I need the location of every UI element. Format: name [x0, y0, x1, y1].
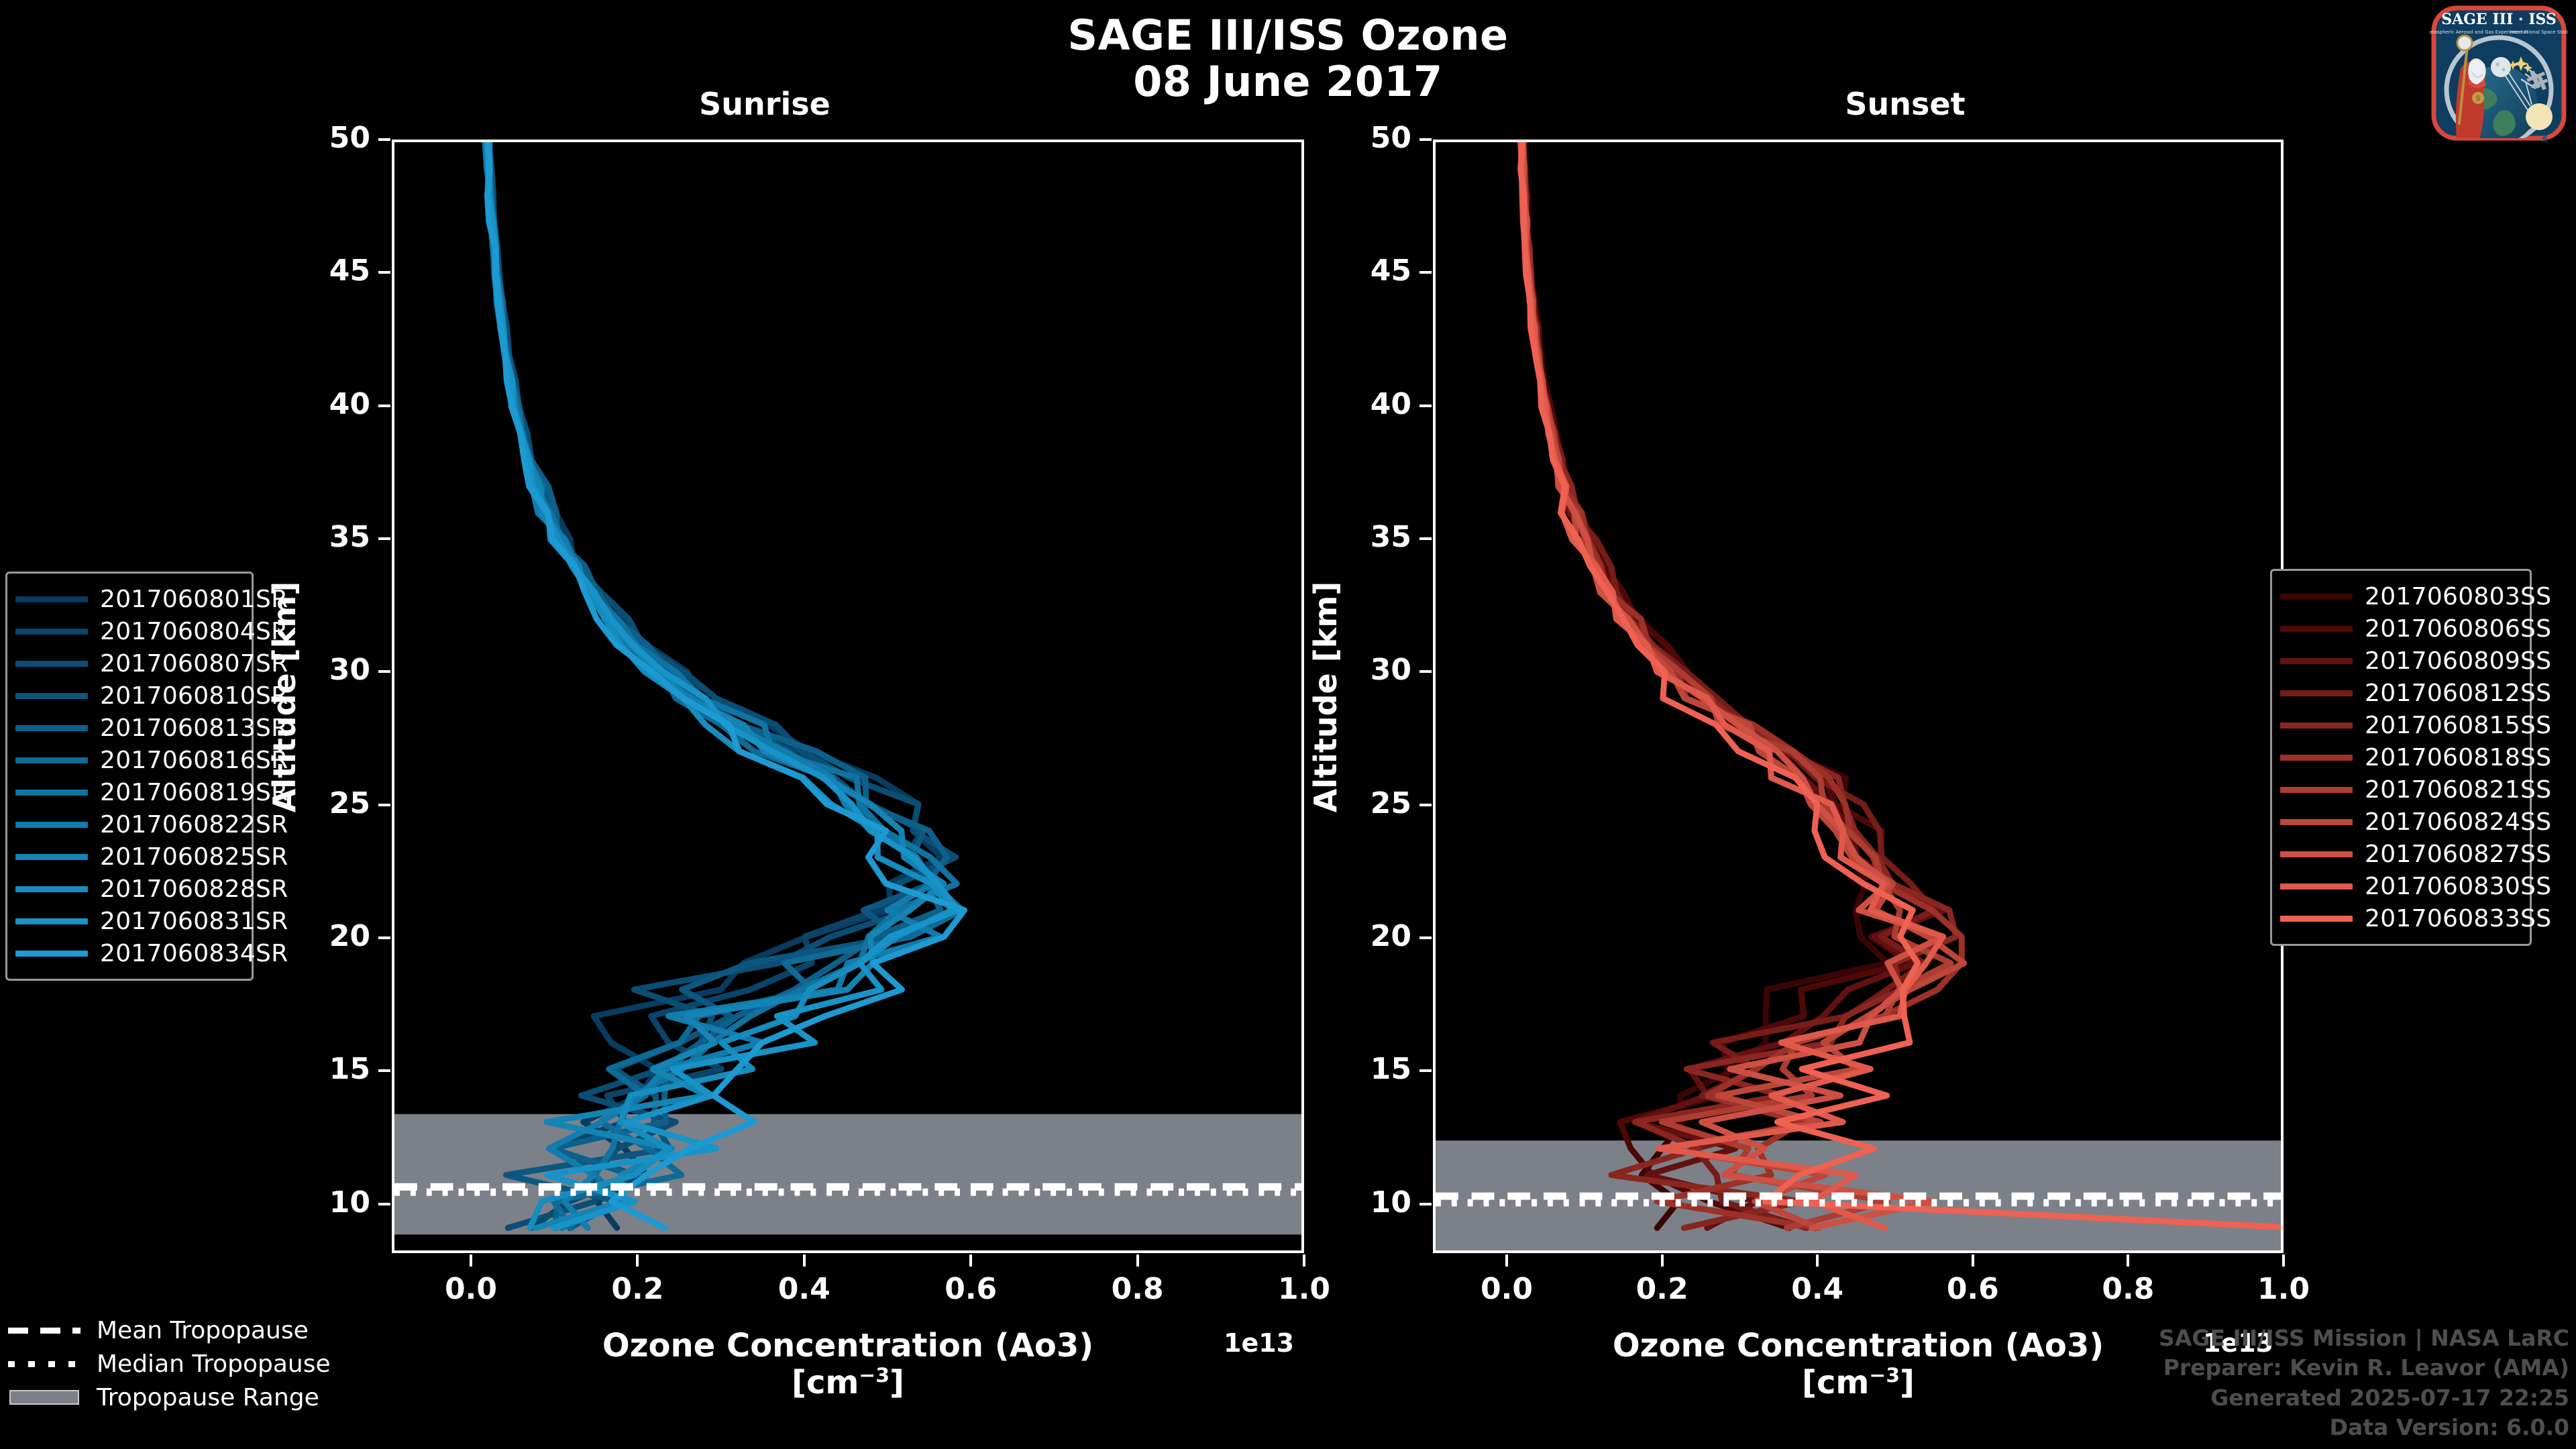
y-axis-tick: [1419, 804, 1432, 806]
y-axis-tick: [378, 138, 390, 141]
data-series-line: [1521, 142, 1945, 1228]
legend-color-swatch: [15, 725, 88, 731]
legend-item[interactable]: 2017060822SR: [15, 808, 241, 841]
data-series-line: [489, 142, 956, 1228]
credit-data-version: Data Version: 6.0.0: [2159, 1413, 2569, 1442]
page-title: SAGE III/ISS Ozone 08 June 2017: [0, 12, 2576, 105]
y-axis-tick-label: 45: [1299, 256, 1411, 286]
legend-item-label: 2017060804SR: [100, 618, 288, 645]
logo-subtitle-right: International Space Station: [2510, 30, 2568, 35]
legend-item[interactable]: 2017060828SR: [15, 873, 241, 905]
legend-item-label: 2017060816SR: [100, 747, 288, 774]
legend-item-label: 2017060803SS: [2365, 583, 2551, 610]
legend-color-swatch: [15, 951, 88, 957]
legend-item[interactable]: 2017060804SR: [15, 615, 241, 647]
sunset-y-axis-label: Altitude [km]: [1307, 523, 1344, 871]
y-axis-tick: [378, 1069, 390, 1072]
sunset-plot-area: [1433, 140, 2284, 1253]
y-axis-tick-label: 45: [258, 256, 370, 286]
legend-color-swatch: [15, 854, 88, 860]
logo-title: SAGE III · ISS: [2441, 11, 2557, 28]
sunset-panel-title: Sunset: [1717, 86, 2093, 122]
y-axis-tick: [1419, 670, 1432, 673]
data-series-line: [1521, 142, 2281, 1228]
sage-iii-iss-mission-patch-logo: S SAGE III · ISS Stratospheric Aerosol a…: [2430, 4, 2568, 142]
sunset-legend[interactable]: 2017060803SS2017060806SS2017060809SS2017…: [2270, 569, 2532, 946]
y-axis-tick: [1419, 405, 1432, 407]
legend-color-swatch: [15, 918, 88, 924]
legend-item[interactable]: 2017060824SS: [2280, 806, 2519, 838]
x-axis-tick: [470, 1254, 472, 1267]
legend-item-median-tropopause: Median Tropopause: [4, 1347, 353, 1381]
y-axis-tick: [1419, 1069, 1432, 1072]
legend-color-swatch: [2280, 916, 2353, 922]
legend-color-swatch: [2280, 755, 2353, 761]
filled-band-icon: [4, 1389, 85, 1406]
sunrise-plot-canvas: [394, 142, 1301, 1250]
data-series-line: [1522, 142, 1943, 1228]
legend-item-label: 2017060813SR: [100, 714, 288, 742]
legend-item-label: 2017060810SR: [100, 682, 288, 710]
mission-patch-icon: S SAGE III · ISS Stratospheric Aerosol a…: [2430, 4, 2568, 142]
legend-item[interactable]: 2017060813SR: [15, 712, 241, 744]
y-axis-tick-label: 15: [258, 1055, 370, 1084]
legend-item[interactable]: 2017060827SS: [2280, 838, 2519, 870]
mean-tropopause-label: Mean Tropopause: [97, 1317, 309, 1344]
legend-item-label: 2017060815SS: [2365, 712, 2551, 739]
legend-color-swatch: [2280, 883, 2353, 890]
legend-item-label: 2017060828SR: [100, 875, 288, 903]
x-axis-tick-label: 0.2: [1602, 1275, 1723, 1304]
legend-item-label: 2017060818SS: [2365, 744, 2551, 771]
legend-item-label: 2017060819SR: [100, 779, 288, 806]
legend-color-swatch: [2280, 594, 2353, 600]
legend-color-swatch: [2280, 787, 2353, 793]
sunrise-axis-exponent: 1e13: [1224, 1328, 1294, 1358]
title-line-1: SAGE III/ISS Ozone: [0, 12, 2576, 58]
y-axis-tick: [1419, 138, 1432, 141]
dotted-line-icon: [4, 1355, 85, 1373]
tropopause-range-band: [394, 1114, 1301, 1235]
x-axis-tick: [1303, 1254, 1305, 1267]
dashed-line-icon: [4, 1322, 85, 1339]
x-axis-tick-label: 0.6: [1913, 1275, 2033, 1304]
y-axis-tick: [1419, 936, 1432, 939]
x-axis-tick-label: 1.0: [1244, 1275, 1364, 1304]
data-series-line: [487, 142, 964, 1228]
x-axis-tick: [1972, 1254, 1974, 1267]
legend-item[interactable]: 2017060803SS: [2280, 580, 2519, 612]
y-axis-tick-label: 50: [1299, 123, 1411, 153]
x-axis-tick: [1136, 1254, 1139, 1267]
data-series-line: [1521, 142, 1943, 1228]
sunset-x-axis-units: [cm−3]: [1802, 1364, 1915, 1401]
x-axis-tick-label: 0.6: [910, 1275, 1031, 1304]
legend-color-swatch: [2280, 819, 2353, 825]
x-axis-tick-label: 0.0: [411, 1275, 531, 1304]
y-axis-tick: [378, 1203, 390, 1205]
legend-item[interactable]: 2017060806SS: [2280, 612, 2519, 645]
legend-item-label: 2017060827SS: [2365, 841, 2551, 868]
data-series-line: [490, 142, 957, 1228]
sunset-x-axis-label-main: Ozone Concentration (Ao3): [1613, 1327, 2104, 1364]
tropopause-range-label: Tropopause Range: [97, 1384, 319, 1411]
legend-color-swatch: [15, 822, 88, 828]
sunrise-x-axis-units: [cm−3]: [792, 1364, 904, 1401]
x-axis-tick: [2127, 1254, 2129, 1267]
median-tropopause-label: Median Tropopause: [97, 1350, 331, 1378]
legend-item-label: 2017060834SR: [100, 940, 288, 967]
x-axis-tick: [1816, 1254, 1819, 1267]
sunrise-panel-title: Sunrise: [577, 86, 953, 122]
legend-color-swatch: [15, 886, 88, 892]
title-line-2: 08 June 2017: [0, 58, 2576, 105]
legend-item-label: 2017060812SS: [2365, 680, 2551, 707]
legend-item[interactable]: 2017060819SR: [15, 776, 241, 808]
y-axis-tick-label: 50: [258, 123, 370, 153]
y-axis-tick-label: 20: [1299, 922, 1411, 951]
legend-item-label: 2017060822SR: [100, 811, 288, 839]
y-axis-tick: [1419, 537, 1432, 540]
x-axis-tick: [2282, 1254, 2285, 1267]
y-axis-tick-label: 10: [258, 1188, 370, 1218]
legend-color-swatch: [2280, 658, 2353, 664]
sunset-x-axis-label: Ozone Concentration (Ao3) [cm−3]: [1523, 1328, 2194, 1401]
credit-generated: Generated 2025-07-17 22:25: [2159, 1383, 2569, 1413]
legend-item-label: 2017060830SS: [2365, 873, 2551, 900]
y-axis-tick: [378, 670, 390, 673]
x-axis-tick: [636, 1254, 639, 1267]
sunrise-x-axis-label: Ozone Concentration (Ao3) [cm−3]: [513, 1328, 1183, 1401]
y-axis-tick: [378, 405, 390, 407]
legend-item-label: 2017060831SR: [100, 908, 288, 935]
legend-color-swatch: [15, 757, 88, 763]
sunrise-x-axis-label-main: Ozone Concentration (Ao3): [602, 1327, 1093, 1364]
x-axis-tick-label: 1.0: [2223, 1275, 2344, 1304]
legend-item[interactable]: 2017060831SR: [15, 905, 241, 937]
legend-item-label: 2017060806SS: [2365, 615, 2551, 643]
y-axis-tick: [1419, 271, 1432, 274]
legend-item-label: 2017060821SS: [2365, 776, 2551, 804]
legend-item[interactable]: 2017060821SS: [2280, 773, 2519, 806]
legend-item[interactable]: 2017060834SR: [15, 937, 241, 969]
legend-item[interactable]: 2017060801SR: [15, 583, 241, 615]
data-series-line: [488, 142, 958, 1228]
legend-color-swatch: [15, 790, 88, 796]
credit-preparer: Preparer: Kevin R. Leavor (AMA): [2159, 1353, 2569, 1383]
credit-mission: SAGE III/ISS Mission | NASA LaRC: [2159, 1324, 2569, 1353]
legend-item-label: 2017060807SR: [100, 650, 288, 678]
legend-item[interactable]: 2017060809SS: [2280, 645, 2519, 677]
x-axis-tick-label: 0.4: [1757, 1275, 1878, 1304]
x-axis-tick-label: 0.8: [1077, 1275, 1198, 1304]
legend-color-swatch: [2280, 851, 2353, 857]
legend-item[interactable]: 2017060825SR: [15, 841, 241, 873]
legend-item[interactable]: 2017060807SR: [15, 647, 241, 680]
sunrise-curves-svg: [394, 142, 1301, 1250]
sunset-curves-svg: [1436, 142, 2281, 1250]
y-axis-tick: [378, 804, 390, 806]
legend-item[interactable]: 2017060812SS: [2280, 677, 2519, 709]
y-axis-tick: [378, 271, 390, 274]
legend-item[interactable]: 2017060816SR: [15, 744, 241, 776]
x-axis-tick-label: 0.4: [744, 1275, 865, 1304]
legend-item-label: 2017060825SR: [100, 843, 288, 871]
sunrise-legend[interactable]: 2017060801SR2017060804SR2017060807SR2017…: [5, 572, 254, 981]
y-axis-tick: [378, 537, 390, 540]
y-axis-tick-label: 40: [258, 390, 370, 419]
legend-color-swatch: [15, 629, 88, 635]
x-axis-tick-label: 0.2: [577, 1275, 698, 1304]
legend-item-label: 2017060801SR: [100, 586, 288, 613]
legend-item[interactable]: 2017060810SR: [15, 680, 241, 712]
y-axis-tick-label: 40: [1299, 390, 1411, 419]
x-axis-tick: [1505, 1254, 1508, 1267]
legend-item-label: 2017060809SS: [2365, 647, 2551, 675]
legend-item-mean-tropopause: Mean Tropopause: [4, 1313, 353, 1347]
legend-item[interactable]: 2017060833SS: [2280, 902, 2519, 934]
legend-item[interactable]: 2017060830SS: [2280, 870, 2519, 902]
legend-item-label: 2017060833SS: [2365, 905, 2551, 932]
svg-text:S: S: [2476, 95, 2481, 103]
sunrise-plot-area: [392, 140, 1304, 1253]
x-axis-tick: [969, 1254, 972, 1267]
y-axis-tick-label: 15: [1299, 1055, 1411, 1084]
credits-block: SAGE III/ISS Mission | NASA LaRC Prepare…: [2159, 1324, 2569, 1442]
legend-color-swatch: [15, 661, 88, 667]
tropopause-legend: Mean Tropopause Median Tropopause Tropop…: [4, 1313, 353, 1414]
legend-color-swatch: [15, 693, 88, 699]
legend-item[interactable]: 2017060818SS: [2280, 741, 2519, 773]
data-series-line: [1523, 142, 1943, 1228]
legend-color-swatch: [15, 596, 88, 602]
data-series-line: [485, 142, 962, 1228]
y-axis-tick-label: 10: [1299, 1188, 1411, 1218]
x-axis-tick-label: 0.8: [2068, 1275, 2188, 1304]
x-axis-tick: [1661, 1254, 1664, 1267]
x-axis-tick-label: 0.0: [1446, 1275, 1567, 1304]
legend-color-swatch: [2280, 690, 2353, 696]
y-axis-tick: [378, 936, 390, 939]
legend-item[interactable]: 2017060815SS: [2280, 709, 2519, 741]
legend-color-swatch: [2280, 722, 2353, 729]
legend-item-label: 2017060824SS: [2365, 808, 2551, 836]
x-axis-tick: [803, 1254, 806, 1267]
legend-item-tropopause-range: Tropopause Range: [4, 1381, 353, 1414]
y-axis-tick: [1419, 1203, 1432, 1205]
legend-color-swatch: [2280, 626, 2353, 632]
sunset-plot-canvas: [1436, 142, 2281, 1250]
